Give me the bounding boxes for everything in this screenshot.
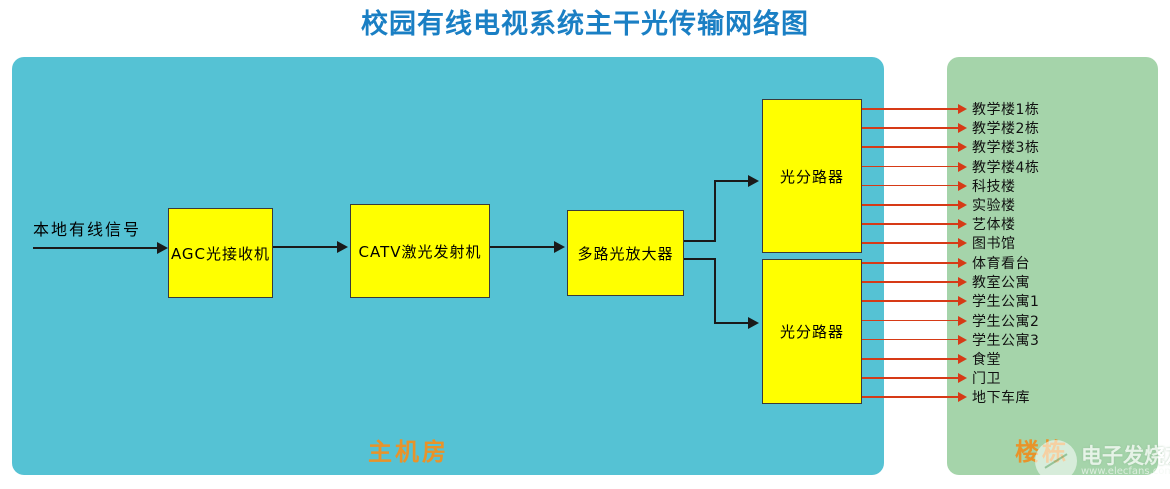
output-feeder-arrow-icon [958, 142, 967, 152]
connector-agc-to-catv-line [273, 246, 337, 248]
output-feeder-line [862, 320, 958, 322]
output-feeder-line [862, 108, 958, 110]
connector-amp-to-splitter2-run [714, 322, 749, 324]
source-connector-arrow-icon [157, 242, 168, 254]
connector-agc-to-catv-arrow-icon [337, 241, 348, 253]
output-destination-label: 艺体楼 [972, 214, 1016, 234]
output-feeder-line [862, 377, 958, 379]
page-title: 校园有线电视系统主干光传输网络图 [0, 2, 1170, 41]
output-destination-label: 科技楼 [972, 176, 1016, 196]
output-feeder-line [862, 185, 958, 187]
buildings-caption: 楼栋 [1015, 432, 1069, 467]
connector-amp-to-splitter2-arrow-icon [748, 317, 759, 329]
output-feeder-arrow-icon [958, 354, 967, 364]
diagram-canvas: 校园有线电视系统主干光传输网络图 主机房 楼栋 本地有线信号 AGC光接收机 C… [0, 0, 1170, 489]
output-destination-label: 实验楼 [972, 195, 1016, 215]
output-destination-label: 教学楼3栋 [972, 137, 1039, 157]
equipment-box-optical-splitter-1[interactable]: 光分路器 [762, 99, 862, 253]
connector-amp-to-splitter1-stub [684, 240, 716, 242]
output-destination-label: 学生公寓3 [972, 330, 1039, 350]
output-feeder-arrow-icon [958, 316, 967, 326]
connector-amp-to-splitter1-riser [714, 180, 716, 242]
equipment-box-optical-splitter-2[interactable]: 光分路器 [762, 259, 862, 404]
source-connector-line [33, 247, 157, 249]
output-feeder-line [862, 339, 958, 341]
output-destination-label: 图书馆 [972, 233, 1016, 253]
equipment-box-catv-laser-transmitter[interactable]: CATV激光发射机 [350, 204, 490, 298]
connector-amp-to-splitter2-stub [684, 258, 716, 260]
connector-amp-to-splitter1-arrow-icon [748, 175, 759, 187]
output-feeder-arrow-icon [958, 373, 967, 383]
output-feeder-line [862, 146, 958, 148]
output-destination-label: 教学楼4栋 [972, 157, 1039, 177]
output-feeder-arrow-icon [958, 162, 967, 172]
output-feeder-arrow-icon [958, 104, 967, 114]
output-destination-label: 体育看台 [972, 253, 1030, 273]
output-destination-label: 教学楼2栋 [972, 118, 1039, 138]
output-feeder-line [862, 300, 958, 302]
output-destination-label: 地下车库 [972, 387, 1030, 407]
output-destination-label: 教室公寓 [972, 272, 1030, 292]
connector-catv-to-amp-line [490, 246, 554, 248]
output-destination-label: 食堂 [972, 349, 1001, 369]
equipment-box-agc-optical-receiver[interactable]: AGC光接收机 [168, 208, 273, 298]
output-destination-label: 学生公寓1 [972, 291, 1039, 311]
output-feeder-arrow-icon [958, 296, 967, 306]
output-feeder-line [862, 242, 958, 244]
output-feeder-arrow-icon [958, 335, 967, 345]
machine-room-caption: 主机房 [368, 432, 449, 467]
output-destination-label: 教学楼1栋 [972, 99, 1039, 119]
output-feeder-line [862, 127, 958, 129]
output-feeder-arrow-icon [958, 258, 967, 268]
output-feeder-arrow-icon [958, 277, 967, 287]
connector-catv-to-amp-arrow-icon [554, 241, 565, 253]
equipment-box-multichannel-optical-amplifier[interactable]: 多路光放大器 [567, 210, 684, 296]
source-signal-label: 本地有线信号 [33, 216, 141, 240]
connector-amp-to-splitter2-riser [714, 258, 716, 324]
output-feeder-line [862, 166, 958, 168]
output-feeder-arrow-icon [958, 238, 967, 248]
output-feeder-arrow-icon [958, 200, 967, 210]
output-destination-label: 门卫 [972, 368, 1001, 388]
connector-amp-to-splitter1-run [714, 180, 749, 182]
output-feeder-line [862, 396, 958, 398]
output-feeder-line [862, 204, 958, 206]
output-feeder-line [862, 223, 958, 225]
output-feeder-line [862, 281, 958, 283]
output-feeder-line [862, 262, 958, 264]
output-feeder-arrow-icon [958, 181, 967, 191]
output-feeder-arrow-icon [958, 123, 967, 133]
output-feeder-arrow-icon [958, 219, 967, 229]
output-feeder-arrow-icon [958, 392, 967, 402]
output-feeder-line [862, 358, 958, 360]
output-destination-label: 学生公寓2 [972, 311, 1039, 331]
